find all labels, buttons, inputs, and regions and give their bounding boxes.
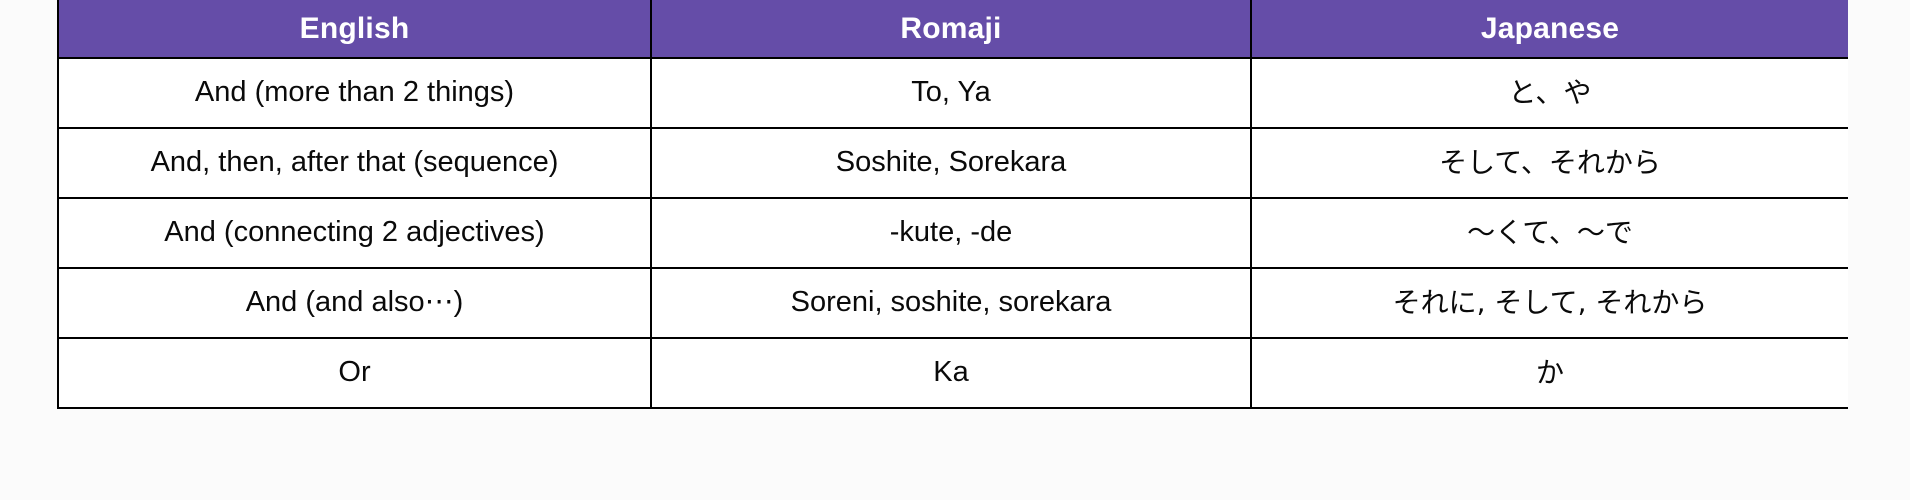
table-row: And, then, after that (sequence) Soshite… — [58, 128, 1848, 198]
column-header-english[interactable]: English — [58, 0, 651, 58]
cell-romaji: To, Ya — [651, 58, 1251, 128]
cell-english: And, then, after that (sequence) — [58, 128, 651, 198]
cell-romaji: Ka — [651, 338, 1251, 408]
cell-romaji: Soreni, soshite, sorekara — [651, 268, 1251, 338]
cell-japanese: そして、それから — [1251, 128, 1848, 198]
cell-english: And (and also⋯) — [58, 268, 651, 338]
table-row: Or Ka か — [58, 338, 1848, 408]
cell-romaji: Soshite, Sorekara — [651, 128, 1251, 198]
cell-japanese: と、や — [1251, 58, 1848, 128]
cell-english: And (connecting 2 adjectives) — [58, 198, 651, 268]
table-row: And (connecting 2 adjectives) -kute, -de… — [58, 198, 1848, 268]
vocabulary-table: English Romaji Japanese And (more than 2… — [57, 0, 1848, 409]
table-header: English Romaji Japanese — [58, 0, 1848, 58]
cell-japanese: か — [1251, 338, 1848, 408]
cell-japanese: 〜くて、〜で — [1251, 198, 1848, 268]
table-row: And (and also⋯) Soreni, soshite, sorekar… — [58, 268, 1848, 338]
table-header-row: English Romaji Japanese — [58, 0, 1848, 58]
column-header-japanese[interactable]: Japanese — [1251, 0, 1848, 58]
cell-english: Or — [58, 338, 651, 408]
table-row: And (more than 2 things) To, Ya と、や — [58, 58, 1848, 128]
page-canvas: English Romaji Japanese And (more than 2… — [0, 0, 1910, 500]
cell-romaji: -kute, -de — [651, 198, 1251, 268]
table-body: And (more than 2 things) To, Ya と、や And,… — [58, 58, 1848, 408]
cell-english: And (more than 2 things) — [58, 58, 651, 128]
column-header-romaji[interactable]: Romaji — [651, 0, 1251, 58]
vocabulary-table-container: English Romaji Japanese And (more than 2… — [57, 0, 1848, 409]
cell-japanese: それに, そして, それから — [1251, 268, 1848, 338]
